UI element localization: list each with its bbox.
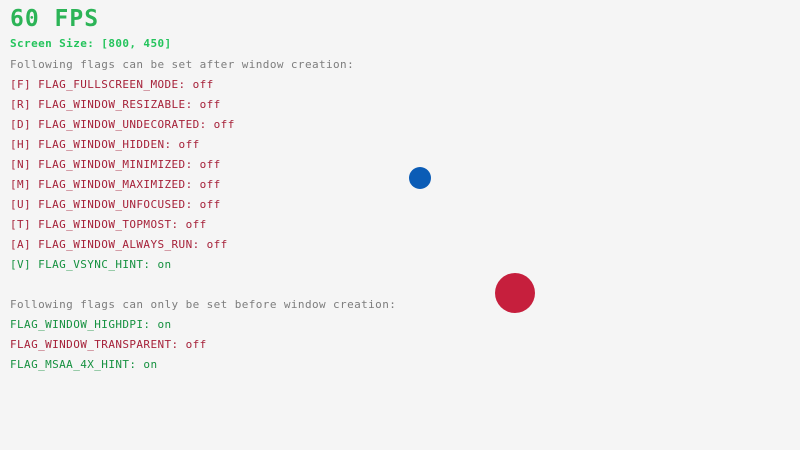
red-ball	[495, 273, 535, 313]
flag-row-flag-window-hidden[interactable]: [H] FLAG_WINDOW_HIDDEN: off	[10, 138, 235, 158]
flag-row-flag-window-unfocused[interactable]: [U] FLAG_WINDOW_UNFOCUSED: off	[10, 198, 235, 218]
flag-row-flag-window-topmost[interactable]: [T] FLAG_WINDOW_TOPMOST: off	[10, 218, 235, 238]
fps-counter: 60 FPS	[10, 6, 99, 32]
flag-row-flag-fullscreen-mode[interactable]: [F] FLAG_FULLSCREEN_MODE: off	[10, 78, 235, 98]
application-window[interactable]: 60 FPS Screen Size: [800, 450] Following…	[0, 0, 800, 450]
flag-row-flag-window-maximized[interactable]: [M] FLAG_WINDOW_MAXIMIZED: off	[10, 178, 235, 198]
startup-flags-list: FLAG_WINDOW_HIGHDPI: onFLAG_WINDOW_TRANS…	[10, 318, 207, 378]
blue-ball	[409, 167, 431, 189]
flag-row-flag-window-always-run[interactable]: [A] FLAG_WINDOW_ALWAYS_RUN: off	[10, 238, 235, 258]
runtime-flags-heading: Following flags can be set after window …	[10, 58, 354, 72]
flag-row-flag-window-minimized[interactable]: [N] FLAG_WINDOW_MINIMIZED: off	[10, 158, 235, 178]
runtime-flags-list: [F] FLAG_FULLSCREEN_MODE: off[R] FLAG_WI…	[10, 78, 235, 278]
flag-row-flag-window-undecorated[interactable]: [D] FLAG_WINDOW_UNDECORATED: off	[10, 118, 235, 138]
flag-row-flag-window-transparent[interactable]: FLAG_WINDOW_TRANSPARENT: off	[10, 338, 207, 358]
flag-row-flag-vsync-hint[interactable]: [V] FLAG_VSYNC_HINT: on	[10, 258, 235, 278]
flag-row-flag-window-resizable[interactable]: [R] FLAG_WINDOW_RESIZABLE: off	[10, 98, 235, 118]
flag-row-flag-window-highdpi[interactable]: FLAG_WINDOW_HIGHDPI: on	[10, 318, 207, 338]
startup-flags-heading: Following flags can only be set before w…	[10, 298, 396, 312]
flag-row-flag-msaa-4x-hint[interactable]: FLAG_MSAA_4X_HINT: on	[10, 358, 207, 378]
screen-size-label: Screen Size: [800, 450]	[10, 37, 172, 51]
